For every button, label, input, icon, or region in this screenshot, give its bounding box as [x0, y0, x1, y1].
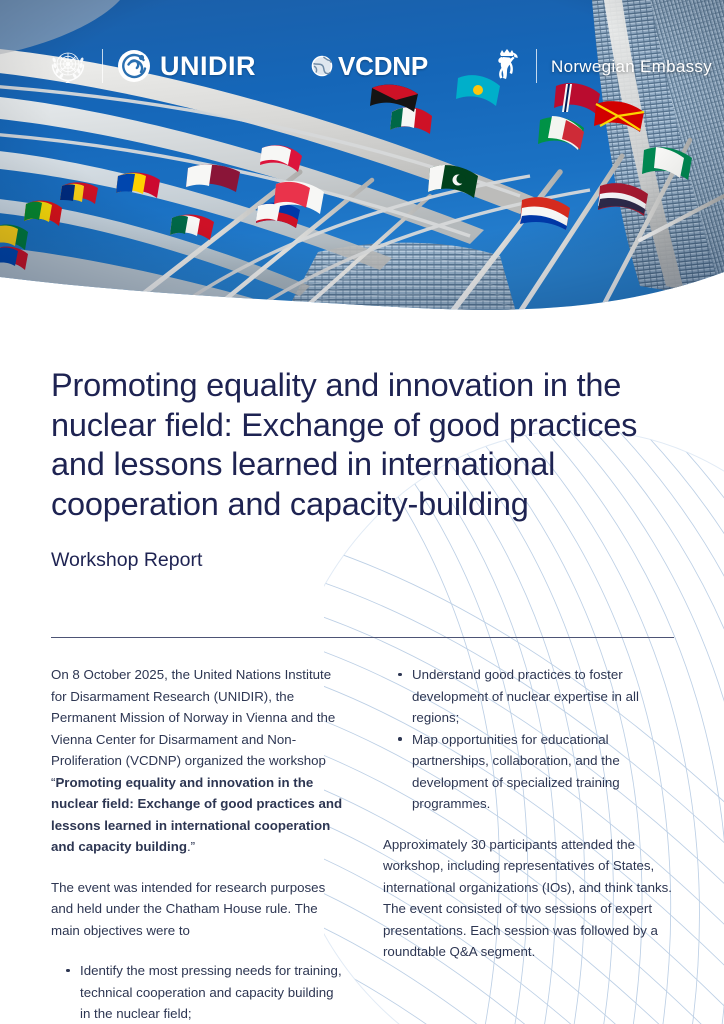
logo-unidir: UNIDIR: [48, 46, 256, 86]
body-columns: On 8 October 2025, the United Nations In…: [51, 664, 675, 1024]
title-block: Promoting equality and innovation in the…: [51, 366, 651, 572]
page-subtitle: Workshop Report: [51, 548, 651, 572]
intro-paragraph: On 8 October 2025, the United Nations In…: [51, 664, 343, 858]
unidir-spiral-icon: [117, 49, 151, 83]
logo-norwegian-embassy: Norwegian Embassy: [492, 48, 712, 84]
intro-tail-text: .”: [187, 839, 195, 854]
objectives-list-right: Understand good practices to foster deve…: [383, 664, 675, 815]
globe-icon: [311, 55, 333, 77]
logo-vcdnp: VCDNP: [311, 53, 428, 79]
list-item-label: Understand good practices to foster deve…: [412, 667, 639, 725]
list-item: Identify the most pressing needs for tra…: [51, 960, 343, 1024]
bullet-icon: [398, 673, 402, 677]
bullet-icon: [66, 969, 70, 973]
unidir-wordmark: UNIDIR: [160, 53, 256, 80]
logo-divider: [102, 49, 103, 83]
partner-logo-bar: UNIDIR VCDNP: [0, 40, 724, 92]
bullet-icon: [398, 737, 402, 741]
norwegian-embassy-wordmark: Norwegian Embassy: [551, 58, 712, 75]
list-item-label: Identify the most pressing needs for tra…: [80, 963, 342, 1021]
objectives-intro-paragraph: The event was intended for research purp…: [51, 877, 343, 942]
vcdnp-wordmark: VCDNP: [338, 53, 428, 79]
un-emblem-icon: [48, 46, 88, 86]
norway-lion-crest-icon: [492, 48, 522, 84]
intro-workshop-title: Promoting equality and innovation in the…: [51, 775, 342, 855]
logo-divider: [536, 49, 537, 83]
intro-lead-text: On 8 October 2025, the United Nations In…: [51, 667, 335, 790]
participants-paragraph: Approximately 30 participants attended t…: [383, 834, 675, 963]
right-column: Understand good practices to foster deve…: [383, 664, 675, 1024]
title-divider: [51, 637, 674, 638]
list-item: Map opportunities for educational partne…: [383, 729, 675, 815]
page-title: Promoting equality and innovation in the…: [51, 366, 651, 524]
list-item-label: Map opportunities for educational partne…: [412, 732, 620, 812]
document-page: UNIDIR VCDNP: [0, 0, 724, 1024]
list-item: Understand good practices to foster deve…: [383, 664, 675, 729]
objectives-list-left: Identify the most pressing needs for tra…: [51, 960, 343, 1024]
left-column: On 8 October 2025, the United Nations In…: [51, 664, 343, 1024]
